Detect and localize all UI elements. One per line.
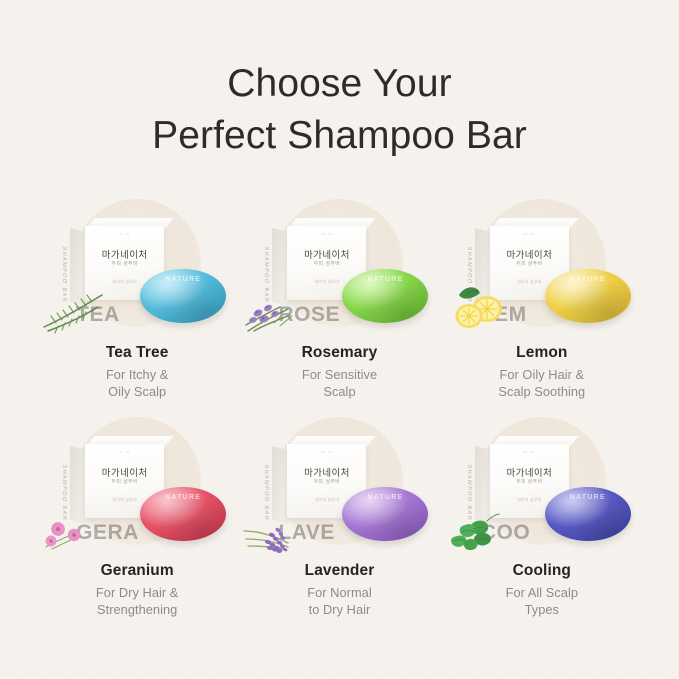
product-description-line-2: to Dry Hair bbox=[309, 602, 371, 617]
box-brand-text: 마가네이처 bbox=[287, 247, 366, 261]
product-artwork: ~ ~ 마가네이처 두피 샴푸바 네이처 샴푸바 SHAMPOO BAR TEA bbox=[42, 205, 232, 337]
soap-bar-emboss-text: NATURE bbox=[140, 494, 226, 501]
product-artwork: ~ ~ 마가네이처 두피 샴푸바 네이처 샴푸바 SHAMPOO BAR ROS… bbox=[244, 205, 434, 337]
soap-bar: NATURE bbox=[140, 487, 226, 541]
mint-leaves-icon bbox=[447, 491, 521, 551]
product-description-line-1: For All Scalp bbox=[506, 585, 578, 600]
soap-bar-emboss-text: NATURE bbox=[140, 276, 226, 283]
lemon-slices-icon bbox=[447, 273, 521, 333]
product-description-line-2: Oily Scalp bbox=[108, 384, 166, 399]
product-description-line-2: Scalp bbox=[323, 384, 355, 399]
lavender-stems-icon bbox=[244, 491, 318, 551]
product-artwork: ~ ~ 마가네이처 두피 샴푸바 네이처 샴푸바 SHAMPOO BAR GER… bbox=[42, 423, 232, 555]
rosemary-sprig-icon bbox=[42, 273, 116, 333]
soap-bar: NATURE bbox=[545, 269, 631, 323]
product-label: Geranium For Dry Hair & Strengthening bbox=[96, 561, 178, 618]
product-description: For Sensitive Scalp bbox=[302, 366, 378, 400]
geranium-flowers-icon bbox=[42, 491, 116, 551]
product-name: Cooling bbox=[506, 561, 578, 581]
box-logo-mark: ~ ~ bbox=[85, 232, 164, 238]
box-logo-mark: ~ ~ bbox=[85, 450, 164, 456]
product-name: Tea Tree bbox=[106, 343, 169, 363]
product-description-line-2: Types bbox=[525, 602, 559, 617]
soap-bar-emboss-text: NATURE bbox=[545, 276, 631, 283]
box-logo-mark: ~ ~ bbox=[490, 450, 569, 456]
box-sub-text: 두피 샴푸바 bbox=[490, 478, 569, 485]
product-name: Lemon bbox=[498, 343, 585, 363]
box-sub-text: 두피 샴푸바 bbox=[490, 260, 569, 267]
product-description: For Oily Hair & Scalp Soothing bbox=[498, 366, 585, 400]
soap-bar: NATURE bbox=[342, 269, 428, 323]
product-description: For Itchy & Oily Scalp bbox=[106, 366, 169, 400]
box-brand-text: 마가네이처 bbox=[287, 465, 366, 479]
soap-bar: NATURE bbox=[545, 487, 631, 541]
product-label: Cooling For All Scalp Types bbox=[506, 561, 578, 618]
product-description-line-1: For Oily Hair & bbox=[499, 367, 584, 382]
box-sub-text: 두피 샴푸바 bbox=[85, 260, 164, 267]
product-label: Lemon For Oily Hair & Scalp Soothing bbox=[498, 343, 585, 400]
box-logo-mark: ~ ~ bbox=[490, 232, 569, 238]
product-description-line-2: Strengthening bbox=[97, 602, 177, 617]
product-description-line-1: For Dry Hair & bbox=[96, 585, 178, 600]
box-brand-text: 마가네이처 bbox=[85, 247, 164, 261]
product-description: For Normal to Dry Hair bbox=[305, 584, 375, 618]
product-artwork: ~ ~ 마가네이처 두피 샴푸바 네이처 샴푸바 SHAMPOO BAR LAV… bbox=[244, 423, 434, 555]
product-label: Tea Tree For Itchy & Oily Scalp bbox=[106, 343, 169, 400]
product-card-cooling[interactable]: ~ ~ 마가네이처 두피 샴푸바 네이처 샴푸바 SHAMPOO BAR COO bbox=[441, 423, 643, 641]
box-logo-mark: ~ ~ bbox=[287, 232, 366, 238]
product-artwork: ~ ~ 마가네이처 두피 샴푸바 네이처 샴푸바 SHAMPOO BAR LEM bbox=[447, 205, 637, 337]
product-name: Geranium bbox=[96, 561, 178, 581]
product-description-line-2: Scalp Soothing bbox=[498, 384, 585, 399]
product-name: Lavender bbox=[305, 561, 375, 581]
box-brand-text: 마가네이처 bbox=[85, 465, 164, 479]
product-description-line-1: For Sensitive bbox=[302, 367, 377, 382]
page-title: Choose Your Perfect Shampoo Bar bbox=[0, 58, 679, 162]
product-card-lavender[interactable]: ~ ~ 마가네이처 두피 샴푸바 네이처 샴푸바 SHAMPOO BAR LAV… bbox=[238, 423, 440, 641]
soap-bar-emboss-text: NATURE bbox=[342, 276, 428, 283]
product-card-tea-tree[interactable]: ~ ~ 마가네이처 두피 샴푸바 네이처 샴푸바 SHAMPOO BAR TEA bbox=[36, 205, 238, 423]
headline-line-2: Perfect Shampoo Bar bbox=[0, 110, 679, 162]
poster-canvas: Choose Your Perfect Shampoo Bar ~ ~ 마가네이… bbox=[0, 0, 679, 679]
soap-bar: NATURE bbox=[342, 487, 428, 541]
product-grid: ~ ~ 마가네이처 두피 샴푸바 네이처 샴푸바 SHAMPOO BAR TEA bbox=[36, 205, 643, 641]
product-description: For All Scalp Types bbox=[506, 584, 578, 618]
box-sub-text: 두피 샴푸바 bbox=[287, 478, 366, 485]
box-sub-text: 두피 샴푸바 bbox=[287, 260, 366, 267]
product-card-geranium[interactable]: ~ ~ 마가네이처 두피 샴푸바 네이처 샴푸바 SHAMPOO BAR GER… bbox=[36, 423, 238, 641]
box-sub-text: 두피 샴푸바 bbox=[85, 478, 164, 485]
product-label: Rosemary For Sensitive Scalp bbox=[302, 343, 378, 400]
lavender-sprig-icon bbox=[244, 273, 318, 333]
soap-bar-emboss-text: NATURE bbox=[545, 494, 631, 501]
headline-line-1: Choose Your bbox=[0, 58, 679, 110]
product-description: For Dry Hair & Strengthening bbox=[96, 584, 178, 618]
box-logo-mark: ~ ~ bbox=[287, 450, 366, 456]
product-card-lemon[interactable]: ~ ~ 마가네이처 두피 샴푸바 네이처 샴푸바 SHAMPOO BAR LEM bbox=[441, 205, 643, 423]
box-brand-text: 마가네이처 bbox=[490, 247, 569, 261]
product-description-line-1: For Normal bbox=[307, 585, 372, 600]
soap-bar: NATURE bbox=[140, 269, 226, 323]
product-label: Lavender For Normal to Dry Hair bbox=[305, 561, 375, 618]
product-artwork: ~ ~ 마가네이처 두피 샴푸바 네이처 샴푸바 SHAMPOO BAR COO bbox=[447, 423, 637, 555]
soap-bar-emboss-text: NATURE bbox=[342, 494, 428, 501]
box-brand-text: 마가네이처 bbox=[490, 465, 569, 479]
product-description-line-1: For Itchy & bbox=[106, 367, 168, 382]
product-name: Rosemary bbox=[302, 343, 378, 363]
product-card-rosemary[interactable]: ~ ~ 마가네이처 두피 샴푸바 네이처 샴푸바 SHAMPOO BAR ROS… bbox=[238, 205, 440, 423]
